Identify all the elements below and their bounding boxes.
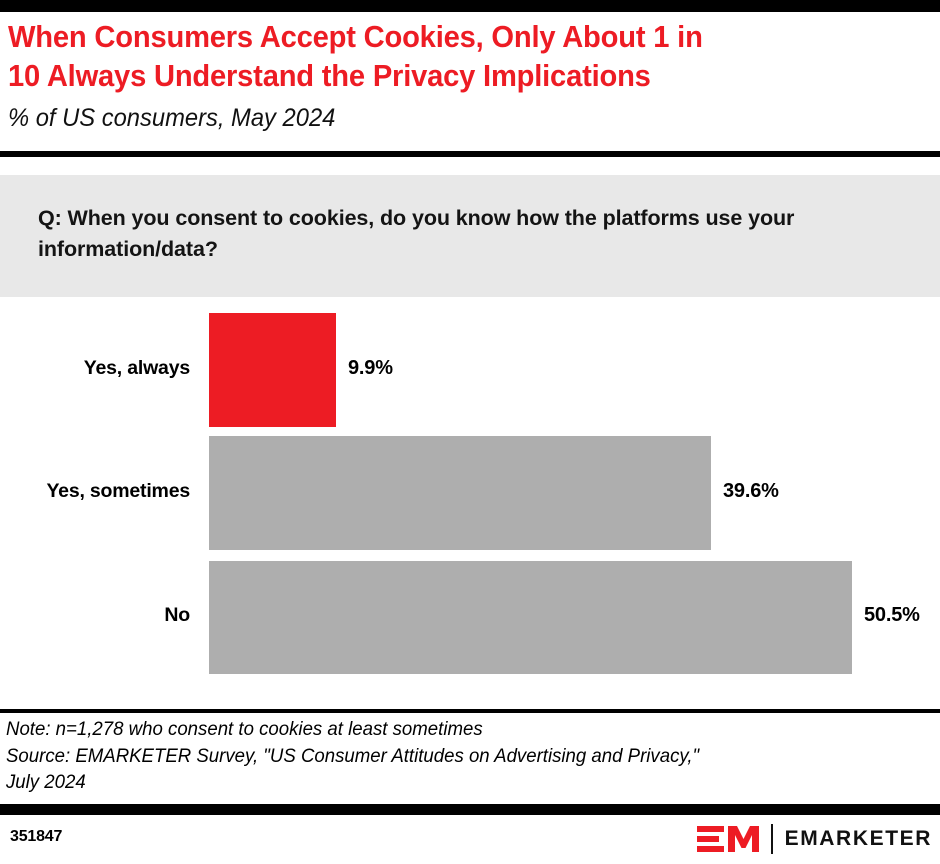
bar-category-label: Yes, sometimes [0,480,190,503]
note-line: Note: n=1,278 who consent to cookies at … [6,717,915,744]
bar-value-label: 50.5% [864,604,920,627]
survey-question-text: Q: When you consent to cookies, do you k… [38,203,898,265]
bar-value-label: 9.9% [348,357,393,380]
chart-id: 351847 [10,828,62,846]
emarketer-chart-card: When Consumers Accept Cookies, Only Abou… [0,0,940,864]
bar-value-label: 39.6% [723,480,779,503]
chart-header: When Consumers Accept Cookies, Only Abou… [8,18,932,134]
top-divider [0,0,940,12]
bar-row: No 50.5% [0,561,940,674]
bar-segment [209,561,852,674]
note-divider [0,709,940,713]
bar-category-label: Yes, always [0,357,190,380]
bar-segment [209,436,711,550]
header-divider [0,151,940,157]
em-monogram-icon [697,823,759,855]
page-title: When Consumers Accept Cookies, Only Abou… [8,18,890,96]
bar-chart-plot: Yes, always 9.9% Yes, sometimes 39.6% No… [0,297,940,710]
bar-row: Yes, sometimes 39.6% [0,436,940,550]
bar-row: Yes, always 9.9% [0,313,940,427]
source-line: Source: EMARKETER Survey, "US Consumer A… [6,744,915,771]
source-line-continued: July 2024 [6,770,915,797]
note-block: Note: n=1,278 who consent to cookies at … [6,717,915,797]
emarketer-logo: EMARKETER [697,823,932,855]
logo-wordmark: EMARKETER [785,827,932,851]
logo-divider [771,824,773,854]
chart-footer: 351847 EMARKETER [0,815,940,864]
survey-question-band: Q: When you consent to cookies, do you k… [0,175,940,297]
chart-subtitle: % of US consumers, May 2024 [8,102,886,134]
bar-category-label: No [0,604,190,627]
footer-divider [0,804,940,815]
bar-segment [209,313,336,427]
